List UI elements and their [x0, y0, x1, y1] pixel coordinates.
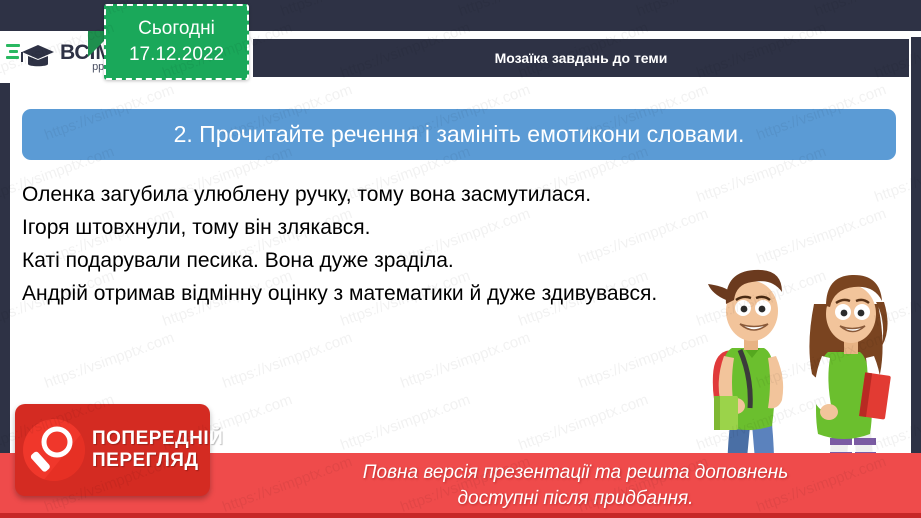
- date-badge: Сьогодні 17.12.2022: [104, 4, 249, 80]
- sentence-item: Андрій отримав відмінну оцінку з математ…: [22, 277, 722, 310]
- promo-line-1: Повна версія презентації та решта доповн…: [363, 460, 788, 486]
- frame-border-right: [911, 0, 921, 518]
- cap-shape-icon: [18, 40, 58, 74]
- task-banner-text: 2. Прочитайте речення і замініть емотико…: [174, 121, 745, 148]
- date-badge-label: Сьогодні: [138, 16, 215, 42]
- task-banner: 2. Прочитайте речення і замініть емотико…: [22, 109, 896, 160]
- preview-badge[interactable]: ПОПЕРЕДНІЙ ПЕРЕГЛЯД: [15, 404, 210, 496]
- graduation-cap-icon: [6, 38, 58, 76]
- sentence-item: Оленка загубила улюблену ручку, тому вон…: [22, 178, 722, 211]
- page-title: Мозаїка завдань до теми: [495, 50, 668, 66]
- slide-canvas: ВСІМ pptx Сьогодні 17.12.2022 Мозаїка за…: [0, 0, 921, 518]
- preview-badge-line-2: ПЕРЕГЛЯД: [92, 450, 223, 472]
- promo-underline: [0, 513, 921, 518]
- slide-header-bar: Мозаїка завдань до теми: [253, 39, 909, 77]
- magnifier-icon: [23, 419, 85, 481]
- preview-badge-line-1: ПОПЕРЕДНІЙ: [92, 428, 223, 450]
- sentence-item: Каті подарували песика. Вона дуже зраділ…: [22, 244, 722, 277]
- sentence-list: Оленка загубила улюблену ручку, тому вон…: [22, 178, 722, 310]
- promo-line-2: доступні після придбання.: [363, 486, 788, 512]
- date-badge-value: 17.12.2022: [129, 42, 224, 68]
- sentence-item: Ігоря штовхнули, тому він злякався.: [22, 211, 722, 244]
